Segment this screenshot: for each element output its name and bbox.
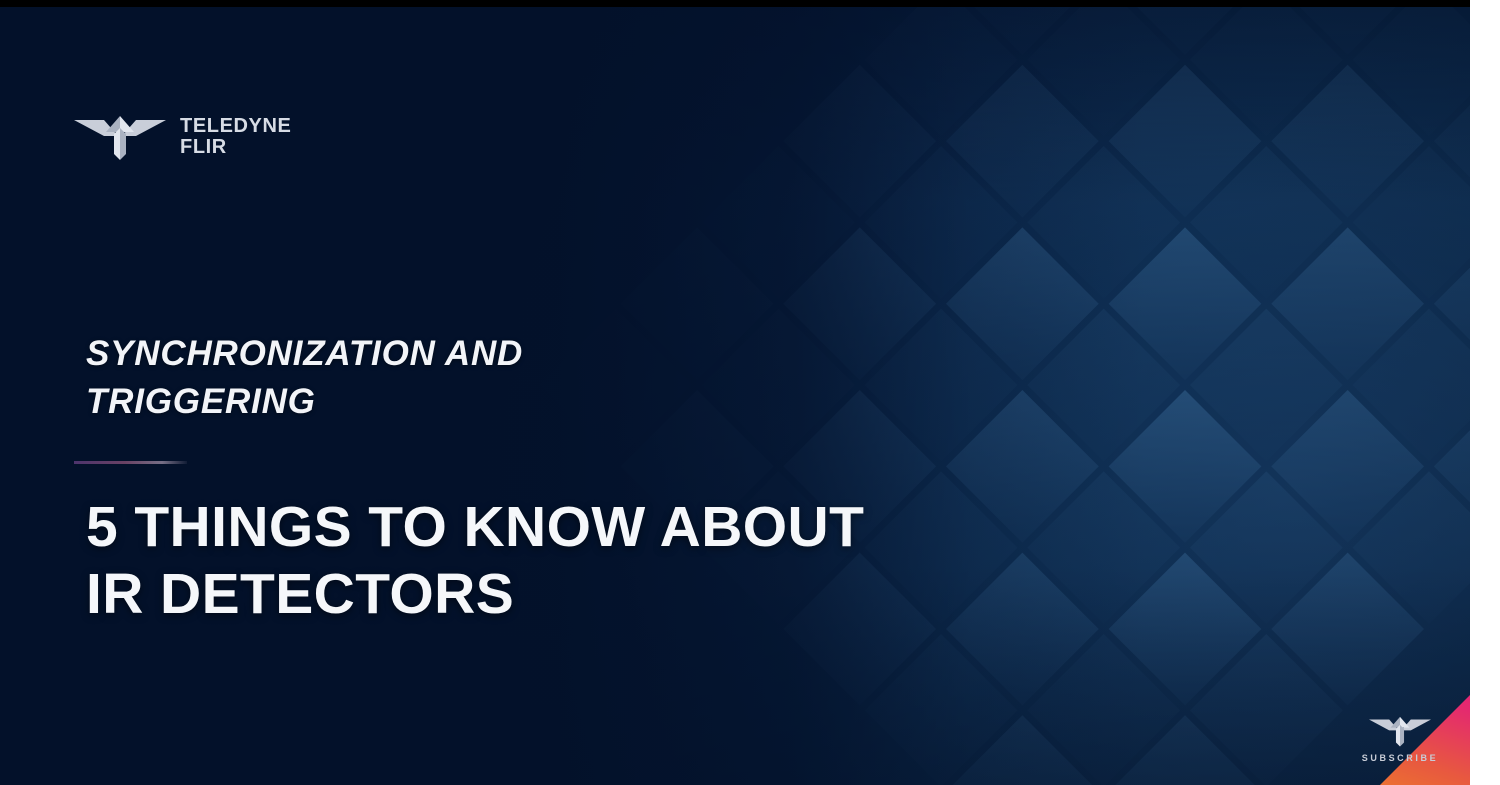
subscribe-label: SUBSCRIBE: [1362, 753, 1438, 763]
brand-line-flir: FLIR: [180, 137, 291, 158]
letterbox-top-bar: [0, 0, 1470, 7]
slide-headline: 5 THINGS TO KNOW ABOUT IR DETECTORS: [86, 494, 946, 629]
teledyne-chevron-mark-icon: [1369, 714, 1431, 748]
brand-line-teledyne: TELEDYNE: [180, 116, 291, 137]
teledyne-flir-logo: TELEDYNE FLIR: [74, 112, 291, 162]
subscribe-watermark-button[interactable]: SUBSCRIBE: [1358, 714, 1442, 763]
slide-eyebrow: SYNCHRONIZATION AND TRIGGERING: [86, 330, 946, 425]
title-divider-rule: [74, 461, 187, 464]
teledyne-flir-wordmark: TELEDYNE FLIR: [180, 116, 291, 158]
screenshot-root: TELEDYNE FLIR SYNCHRONIZATION AND TRIGGE…: [0, 0, 1500, 785]
page-right-gutter: [1470, 0, 1500, 785]
teledyne-chevron-mark-icon: [74, 112, 166, 162]
title-block: SYNCHRONIZATION AND TRIGGERING 5 THINGS …: [86, 330, 946, 629]
video-slide[interactable]: TELEDYNE FLIR SYNCHRONIZATION AND TRIGGE…: [0, 0, 1470, 785]
